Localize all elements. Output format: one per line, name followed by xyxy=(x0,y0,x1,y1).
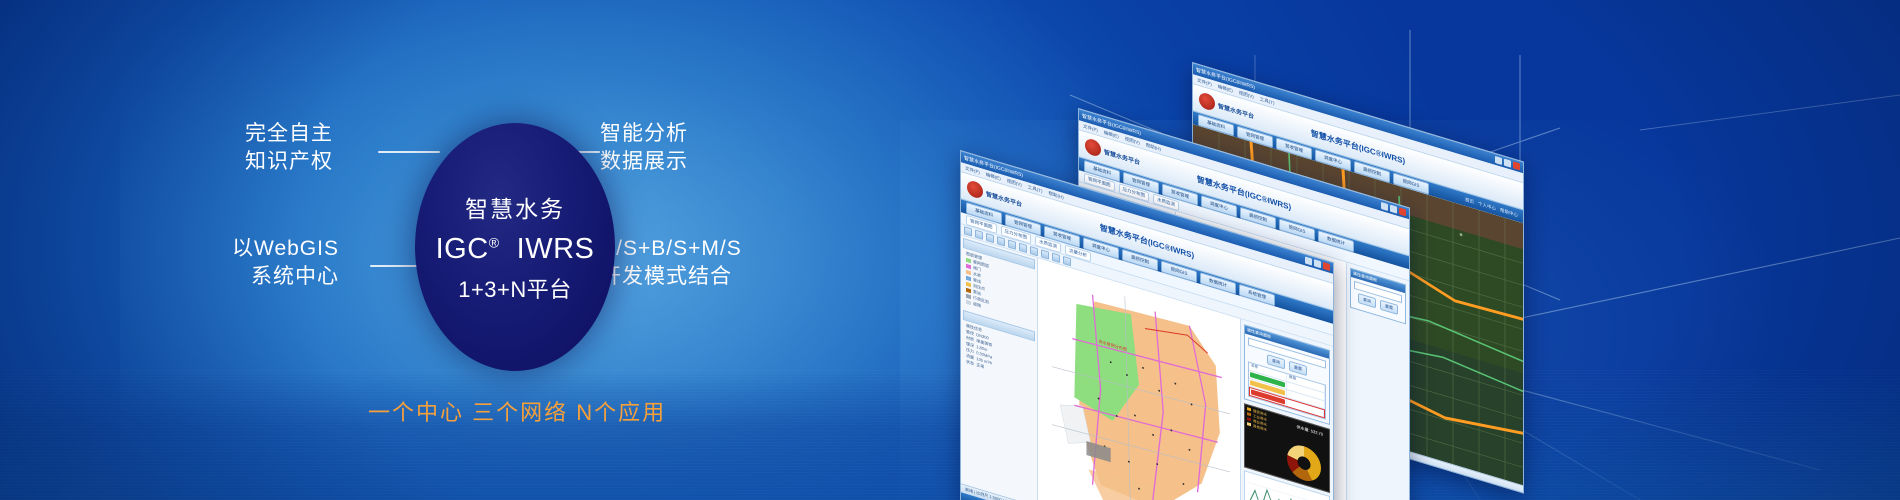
minimize-icon[interactable] xyxy=(1381,202,1388,211)
dialog-query-button[interactable]: 查询 xyxy=(1358,293,1376,308)
save-icon[interactable] xyxy=(975,230,983,240)
open-icon[interactable] xyxy=(964,226,972,236)
layer-panel-front[interactable]: 图层管理 管网图层 阀门 水表 管线 测压点 泵站 行政区划 道路 属性信息 管… xyxy=(961,235,1038,500)
pan-icon[interactable] xyxy=(1019,243,1027,253)
app-logo-icon xyxy=(1199,91,1215,112)
maximize-icon[interactable] xyxy=(1314,259,1321,268)
maximize-icon[interactable] xyxy=(1504,159,1511,168)
layer-swatch-icon xyxy=(966,300,971,306)
dialog-reset-button[interactable]: 重置 xyxy=(1380,300,1398,315)
brand-name-middle: 智慧水务平台 xyxy=(1104,146,1140,166)
label-top-right-line2: 数据展示 xyxy=(600,148,688,176)
nav-link-home[interactable]: 首页 xyxy=(1465,196,1474,205)
app-logo-icon xyxy=(1085,137,1101,158)
brand-name-back: 智慧水务平台 xyxy=(1218,100,1254,120)
connector-top-left xyxy=(378,151,440,153)
badge-name: 智慧水务 xyxy=(465,190,565,224)
badge-product: IGC xyxy=(436,233,489,265)
right-panel-front[interactable]: 属性查询面板 查询 重置 名称 数值 xyxy=(1240,319,1333,500)
registered-mark-icon: ® xyxy=(489,234,500,250)
close-icon[interactable] xyxy=(1513,161,1520,170)
app-logo-icon xyxy=(967,179,983,200)
layers-icon[interactable] xyxy=(1063,256,1071,266)
print-icon[interactable] xyxy=(986,233,994,243)
label-top-right: 智能分析 数据展示 xyxy=(600,120,688,175)
badge-product-line: IGC® IWRS xyxy=(436,233,595,266)
badge-product2: IWRS xyxy=(517,233,595,265)
close-icon[interactable] xyxy=(1399,207,1406,216)
maximize-icon[interactable] xyxy=(1390,205,1397,214)
center-badge: 智慧水务 IGC® IWRS 1+3+N平台 xyxy=(415,123,615,371)
close-icon[interactable] xyxy=(1323,262,1330,271)
label-top-left-line1: 完全自主 xyxy=(245,120,333,148)
measure-icon[interactable] xyxy=(1041,249,1049,259)
brand-name-front: 智慧水务平台 xyxy=(986,188,1022,208)
zoom-in-icon[interactable] xyxy=(997,236,1005,246)
concept-diagram: 完全自主 知识产权 以WebGIS 系统中心 智能分析 数据展示 C/S+B/S… xyxy=(250,95,810,395)
label-bottom-left-line1: 以WebGIS xyxy=(232,235,339,263)
label-bottom-right: C/S+B/S+M/S 开发模式结合 xyxy=(600,235,742,290)
label-top-left: 完全自主 知识产权 xyxy=(245,120,333,175)
tagline: 一个中心 三个网络 N个应用 xyxy=(368,395,666,427)
minimize-icon[interactable] xyxy=(1495,156,1502,165)
label-bottom-right-line2: 开发模式结合 xyxy=(600,263,742,291)
identify-icon[interactable] xyxy=(1052,253,1060,263)
select-icon[interactable] xyxy=(1030,246,1038,256)
label-top-left-line2: 知识产权 xyxy=(245,148,333,176)
banner-stage: 完全自主 知识产权 以WebGIS 系统中心 智能分析 数据展示 C/S+B/S… xyxy=(0,0,1900,500)
zoom-out-icon[interactable] xyxy=(1008,239,1016,249)
label-top-right-line1: 智能分析 xyxy=(600,120,688,148)
right-panel-middle[interactable]: 属性查询面板 查询 重置 xyxy=(1346,262,1409,500)
label-bottom-right-line1: C/S+B/S+M/S xyxy=(600,235,742,263)
badge-platform: 1+3+N平台 xyxy=(458,272,572,304)
label-bottom-left: 以WebGIS 系统中心 xyxy=(232,235,339,290)
minimize-icon[interactable] xyxy=(1305,257,1312,266)
screenshot-stack: 智慧水务平台(IGC®IWRS) 文件(F) 编辑(E) 视图(V) 工具(T)… xyxy=(960,20,1620,480)
label-bottom-left-line2: 系统中心 xyxy=(232,263,339,291)
